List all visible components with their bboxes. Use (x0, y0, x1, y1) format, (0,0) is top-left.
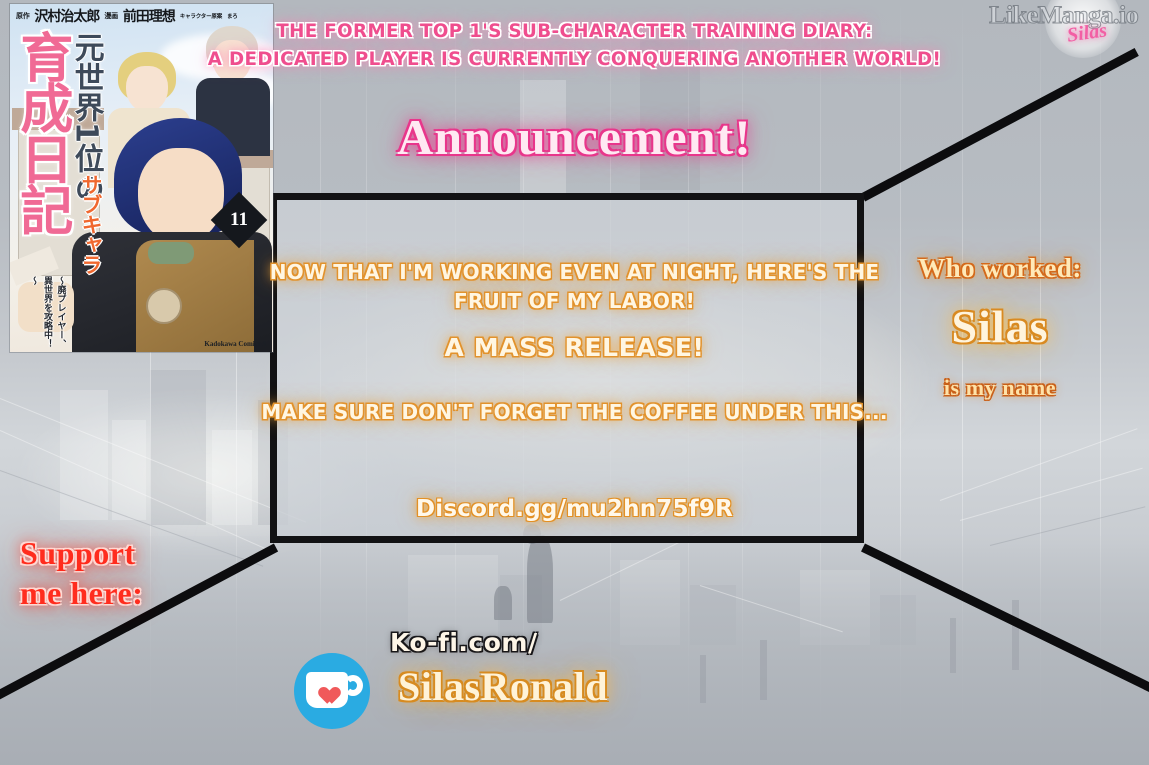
announcement-heading: Announcement! (0, 108, 1149, 166)
support-line-1: Support (20, 533, 250, 573)
kofi-url-label[interactable]: Ko-fi.com/ (390, 628, 538, 657)
support-line-2: me here: (20, 573, 250, 613)
is-my-name-label: is my name (880, 375, 1120, 401)
series-title: The Former Top 1's Sub-Character Trainin… (23, 18, 1126, 73)
panel-background (277, 200, 857, 536)
series-title-line-1: The Former Top 1's Sub-Character Trainin… (23, 18, 1126, 46)
announcement-panel (270, 193, 864, 543)
cover-volume-number: 11 (230, 209, 248, 231)
announcement-page: 原作 沢村治太郎 漫画 前田理想 キャラクター原案 まろ 育成日記 元世界1位の… (0, 0, 1149, 765)
who-worked-label: Who worked: (880, 253, 1120, 284)
discord-link[interactable]: Discord.gg/mu2hn75f9R (0, 496, 1149, 522)
support-me-here-label: Support me here: (20, 533, 250, 613)
panel-text-coffee-note: Make sure don't forget the coffee under … (0, 400, 1149, 424)
kofi-cup-heart-icon[interactable] (294, 653, 370, 729)
kofi-heart-icon (315, 680, 334, 697)
translator-name: Silas (880, 300, 1120, 353)
kofi-username[interactable]: SilasRonald (398, 663, 608, 710)
series-title-line-2: A Dedicated Player Is Currently Conqueri… (23, 46, 1126, 74)
